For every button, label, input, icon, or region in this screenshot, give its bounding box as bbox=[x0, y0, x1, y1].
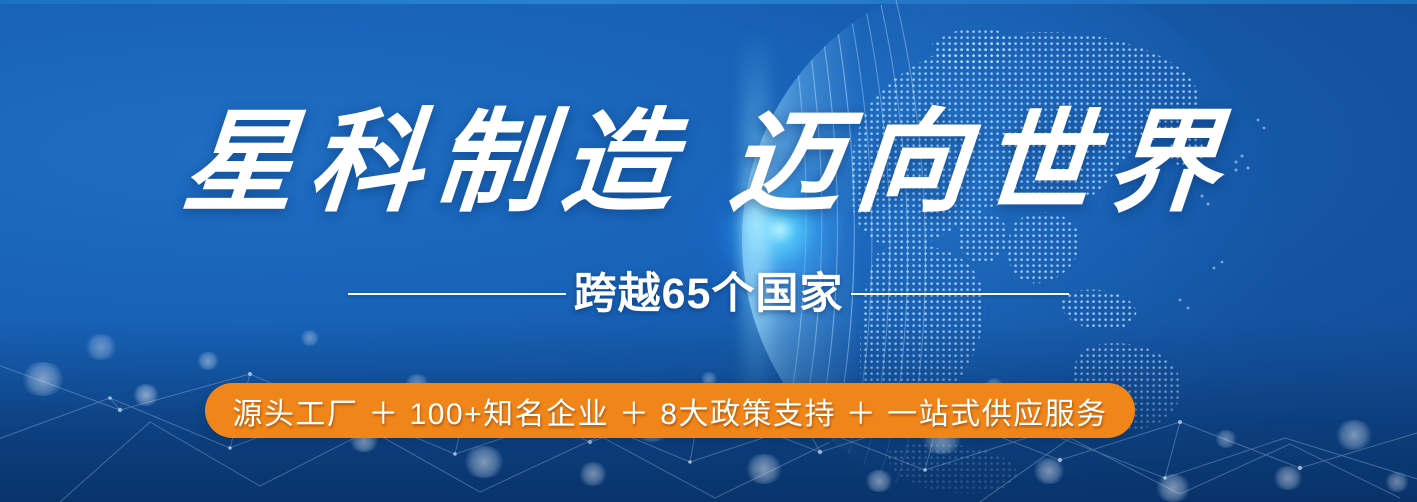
promo-banner: 星科制造 迈向世界 跨越65个国家 源头工厂 ＋ 100+知名企业 ＋ 8大政策… bbox=[0, 0, 1417, 502]
features-pill-text: 源头工厂 ＋ 100+知名企业 ＋ 8大政策支持 ＋ 一站式供应服务 bbox=[232, 389, 1107, 433]
rule-right-decor bbox=[851, 293, 1069, 295]
headline-title: 星科制造 迈向世界 bbox=[0, 104, 1417, 224]
features-pill[interactable]: 源头工厂 ＋ 100+知名企业 ＋ 8大政策支持 ＋ 一站式供应服务 bbox=[205, 383, 1135, 438]
rule-left-decor bbox=[348, 293, 566, 295]
subtitle-text: 跨越65个国家 bbox=[574, 266, 844, 322]
subtitle-row: 跨越65个国家 bbox=[0, 266, 1417, 322]
banner-content: 星科制造 迈向世界 跨越65个国家 源头工厂 ＋ 100+知名企业 ＋ 8大政策… bbox=[0, 0, 1417, 502]
